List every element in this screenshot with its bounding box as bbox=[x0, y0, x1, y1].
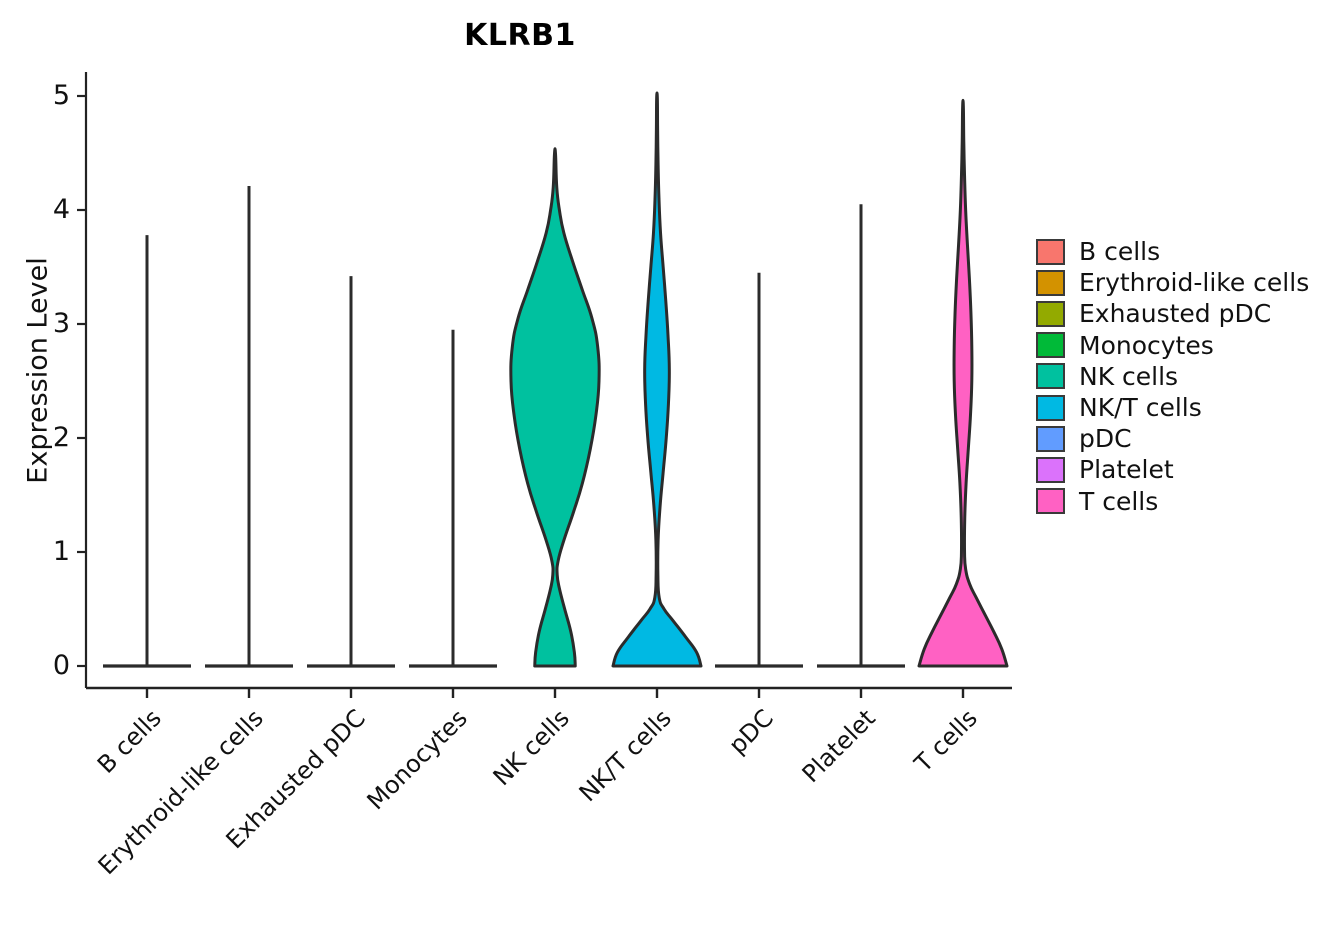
legend-item-platelet[interactable]: Platelet bbox=[1036, 454, 1309, 485]
legend-color-swatch bbox=[1036, 301, 1065, 327]
legend-label: B cells bbox=[1079, 239, 1160, 264]
legend-item-erythroid-like-cells[interactable]: Erythroid-like cells bbox=[1036, 267, 1309, 298]
legend-color-swatch bbox=[1036, 488, 1065, 514]
legend-label: Erythroid-like cells bbox=[1079, 270, 1309, 295]
legend-label: NK cells bbox=[1079, 364, 1178, 389]
legend-label: pDC bbox=[1079, 426, 1132, 451]
legend-item-nk-t-cells[interactable]: NK/T cells bbox=[1036, 392, 1309, 423]
legend-item-monocytes[interactable]: Monocytes bbox=[1036, 330, 1309, 361]
legend-color-swatch bbox=[1036, 395, 1065, 421]
x-axis-tick-labels: B cellsErythroid-like cellsExhausted pDC… bbox=[0, 0, 1040, 900]
legend-label: NK/T cells bbox=[1079, 395, 1202, 420]
legend-label: Monocytes bbox=[1079, 333, 1214, 358]
legend-label: T cells bbox=[1079, 489, 1158, 514]
legend-item-nk-cells[interactable]: NK cells bbox=[1036, 361, 1309, 392]
legend-item-exhausted-pdc[interactable]: Exhausted pDC bbox=[1036, 298, 1309, 329]
x-tick-label: T cells bbox=[751, 704, 983, 936]
legend-item-t-cells[interactable]: T cells bbox=[1036, 486, 1309, 517]
violin-plot-figure: KLRB1 Expression Level 012345 B cellsEry… bbox=[0, 0, 1327, 900]
legend-color-swatch bbox=[1036, 239, 1065, 265]
legend: B cellsErythroid-like cellsExhausted pDC… bbox=[1036, 236, 1309, 517]
legend-color-swatch bbox=[1036, 457, 1065, 483]
legend-color-swatch bbox=[1036, 270, 1065, 296]
legend-item-pdc[interactable]: pDC bbox=[1036, 423, 1309, 454]
legend-label: Exhausted pDC bbox=[1079, 301, 1271, 326]
legend-color-swatch bbox=[1036, 363, 1065, 389]
legend-color-swatch bbox=[1036, 426, 1065, 452]
legend-color-swatch bbox=[1036, 332, 1065, 358]
legend-item-b-cells[interactable]: B cells bbox=[1036, 236, 1309, 267]
legend-label: Platelet bbox=[1079, 457, 1174, 482]
